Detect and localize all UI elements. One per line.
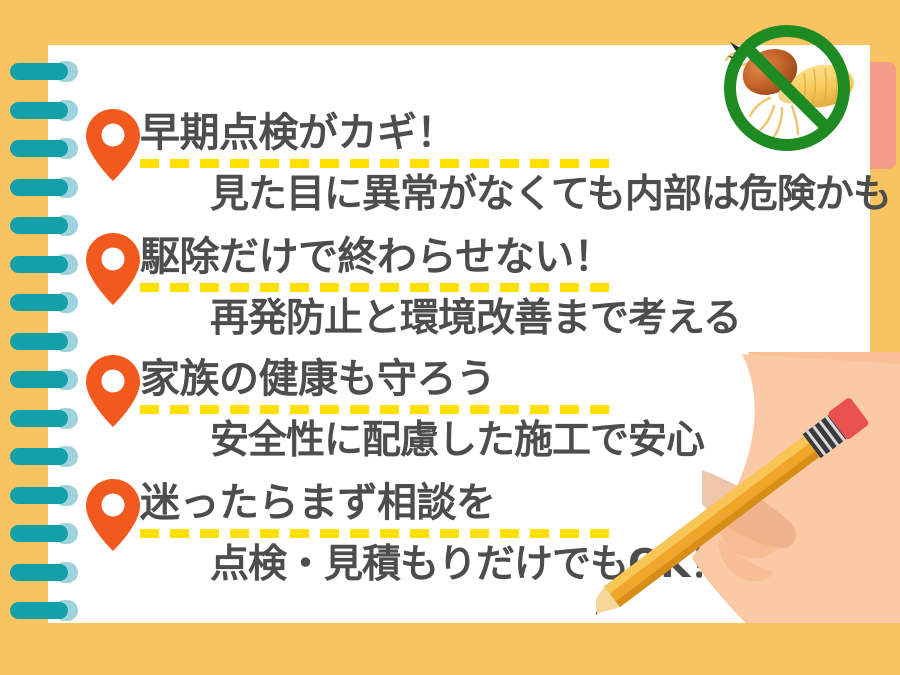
checklist-item-subline: 再発防止と環境改善まで考える bbox=[210, 295, 741, 343]
checklist-item-subline: 見た目に異常がなくても内部は危険かも bbox=[210, 171, 891, 219]
checklist-item-headline: 家族の健康も守ろう bbox=[140, 353, 496, 405]
map-pin-icon bbox=[86, 233, 140, 305]
map-pin-icon bbox=[86, 109, 140, 181]
hand-with-pencil-icon bbox=[596, 352, 900, 623]
map-pin-icon bbox=[86, 479, 140, 551]
checklist-item-headline: 迷ったらまず相談を bbox=[140, 477, 496, 529]
checklist-item-headline: 早期点検がカギ！ bbox=[140, 107, 456, 159]
checklist-item: 駆除だけで終わらせない！再発防止と環境改善まで考える bbox=[48, 229, 870, 291]
map-pin-icon bbox=[86, 355, 140, 427]
dashed-underline bbox=[140, 529, 620, 538]
checklist-item-headline: 駆除だけで終わらせない！ bbox=[140, 231, 613, 283]
checklist-item: 早期点検がカギ！見た目に異常がなくても内部は危険かも bbox=[48, 105, 870, 167]
infographic-canvas: 早期点検がカギ！見た目に異常がなくても内部は危険かも駆除だけで終わらせない！再発… bbox=[0, 0, 900, 675]
dashed-underline bbox=[140, 283, 620, 292]
dashed-underline bbox=[140, 159, 620, 168]
dashed-underline bbox=[140, 405, 620, 414]
